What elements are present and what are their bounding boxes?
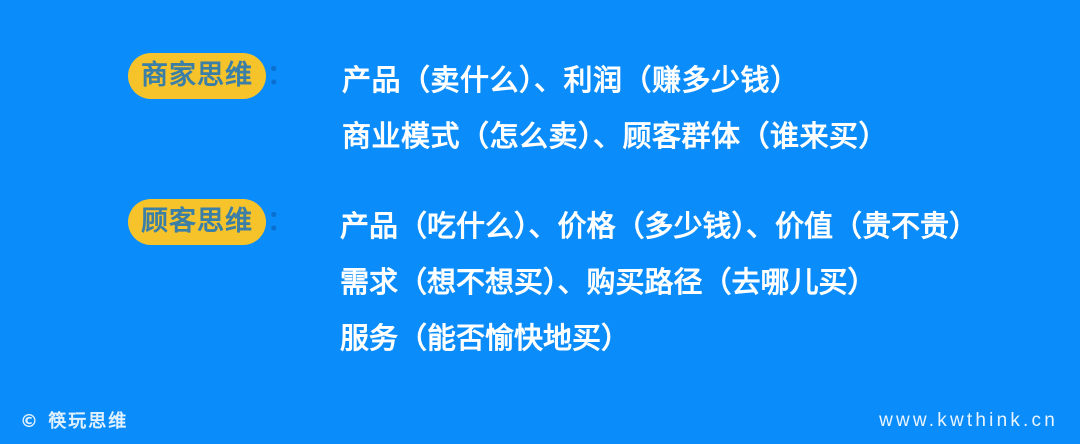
label-merchant-wrap: 商家思维 ： [128, 50, 294, 99]
badge-merchant-mindset: 商家思维 [128, 53, 266, 99]
badge-customer-mindset: 顾客思维 [128, 199, 266, 245]
label-colon: ： [267, 208, 294, 235]
lines-customer: 产品（吃什么）、价格（多少钱）、价值（贵不贵） 需求（想不想买）、购买路径（去哪… [340, 196, 978, 366]
website-watermark: www.kwthink.cn [879, 410, 1058, 432]
content-block-merchant: 商家思维 ： 产品（卖什么）、利润（赚多少钱） 商业模式（怎么卖）、顾客群体（谁… [128, 50, 888, 164]
slide-canvas: 商家思维 ： 产品（卖什么）、利润（赚多少钱） 商业模式（怎么卖）、顾客群体（谁… [0, 0, 1080, 444]
label-customer-wrap: 顾客思维 ： [128, 196, 294, 245]
copyright-notice: © 筷玩思维 [20, 407, 128, 433]
line-item: 需求（想不想买）、购买路径（去哪儿买） [340, 254, 978, 310]
line-item: 产品（吃什么）、价格（多少钱）、价值（贵不贵） [340, 198, 978, 254]
line-item: 服务（能否愉快地买） [340, 310, 978, 366]
line-item: 商业模式（怎么卖）、顾客群体（谁来买） [342, 108, 888, 164]
content-block-customer: 顾客思维 ： 产品（吃什么）、价格（多少钱）、价值（贵不贵） 需求（想不想买）、… [128, 196, 978, 366]
lines-merchant: 产品（卖什么）、利润（赚多少钱） 商业模式（怎么卖）、顾客群体（谁来买） [342, 50, 888, 164]
label-colon: ： [267, 62, 294, 89]
line-item: 产品（卖什么）、利润（赚多少钱） [342, 52, 888, 108]
